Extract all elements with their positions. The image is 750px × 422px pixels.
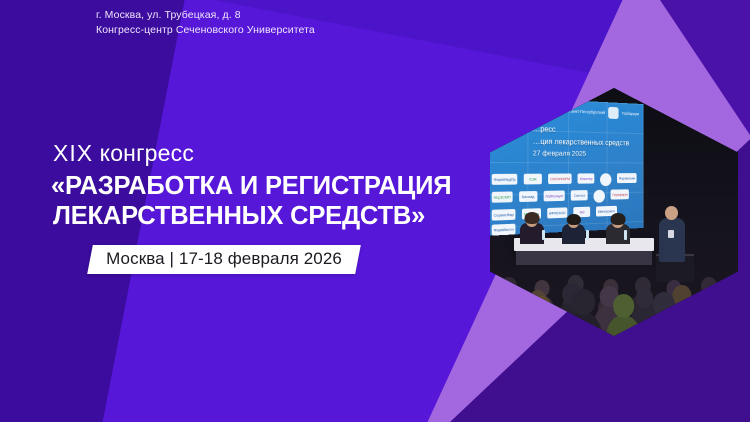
title-line-2: ЛЕКАРСТВЕННЫХ СРЕДСТВ» xyxy=(53,202,451,232)
screen-corner-label-2: Гербариум xyxy=(622,111,639,117)
venue-address: г. Москва, ул. Трубецкая, д. 8 Конгресс-… xyxy=(96,8,315,38)
page-title: «РАЗРАБОТКА И РЕГИСТРАЦИЯ ЛЕКАРСТВЕННЫХ … xyxy=(53,172,451,232)
congress-kicker: XIX конгресс xyxy=(53,142,451,165)
herbarium-mark-icon xyxy=(608,107,618,119)
title-line-1: «РАЗРАБОТКА И РЕГИСТРАЦИЯ xyxy=(51,172,451,202)
panelist xyxy=(520,214,544,244)
congress-word: конгресс xyxy=(100,140,194,166)
screen-sponsor-logo: СервисФар xyxy=(492,209,516,221)
screen-sponsor-logo: ФармМедПр xyxy=(492,174,518,185)
screen-sponsor-logo: Кластер xyxy=(578,173,595,183)
date-location-text: Москва | 17-18 февраля 2026 xyxy=(106,249,342,269)
address-line-1: г. Москва, ул. Трубецкая, д. 8 xyxy=(96,8,315,23)
screen-sponsor-logo: Синтез xyxy=(571,190,588,201)
congress-number: XIX xyxy=(53,140,93,166)
screen-sponsor-logo: ЕЭК xyxy=(524,174,542,185)
screen-sponsor-logo: ОЗОНФАРМ xyxy=(548,173,572,184)
water-bottle xyxy=(542,230,545,240)
screen-sponsor-logo: Герофарм xyxy=(611,189,629,199)
speaker-badge xyxy=(668,230,674,238)
screen-sponsor-logo: Фармзнани xyxy=(617,173,637,183)
panelist xyxy=(562,216,585,244)
screen-sponsor-logo: ФармВестн xyxy=(492,224,516,236)
water-bottle xyxy=(586,230,589,240)
screen-sponsor-logo: НЦЭСМП xyxy=(492,191,513,202)
screen-corner-label-1: Санкт-Петербургский xyxy=(569,108,605,115)
screen-date: 27 февраля 2025 xyxy=(533,148,629,160)
speaker-head xyxy=(665,206,678,220)
screen-sponsor-logo: ЛабКонцеп xyxy=(543,190,565,201)
conference-poster: г. Москва, ул. Трубецкая, д. 8 Конгресс-… xyxy=(0,0,750,422)
partner-logo-strip: научно-практический журнал ® РРЛС разраб… xyxy=(0,360,750,422)
screen-sponsor-logo xyxy=(594,190,605,203)
headline-block: XIX конгресс «РАЗРАБОТКА И РЕГИСТРАЦИЯ Л… xyxy=(53,142,451,232)
screen-corner-logos: Санкт-Петербургский Гербариум xyxy=(569,105,639,120)
screen-sponsor-logo: Биокад xyxy=(519,191,537,202)
screen-sponsor-logo xyxy=(600,173,611,186)
water-bottle xyxy=(624,230,627,240)
date-location-badge: Москва | 17-18 февраля 2026 xyxy=(87,245,360,274)
address-line-2: Конгресс-центр Сеченовского Университета xyxy=(96,23,315,38)
screen-title-block: …ресс …ция лекарственных средств 27 февр… xyxy=(533,124,629,160)
